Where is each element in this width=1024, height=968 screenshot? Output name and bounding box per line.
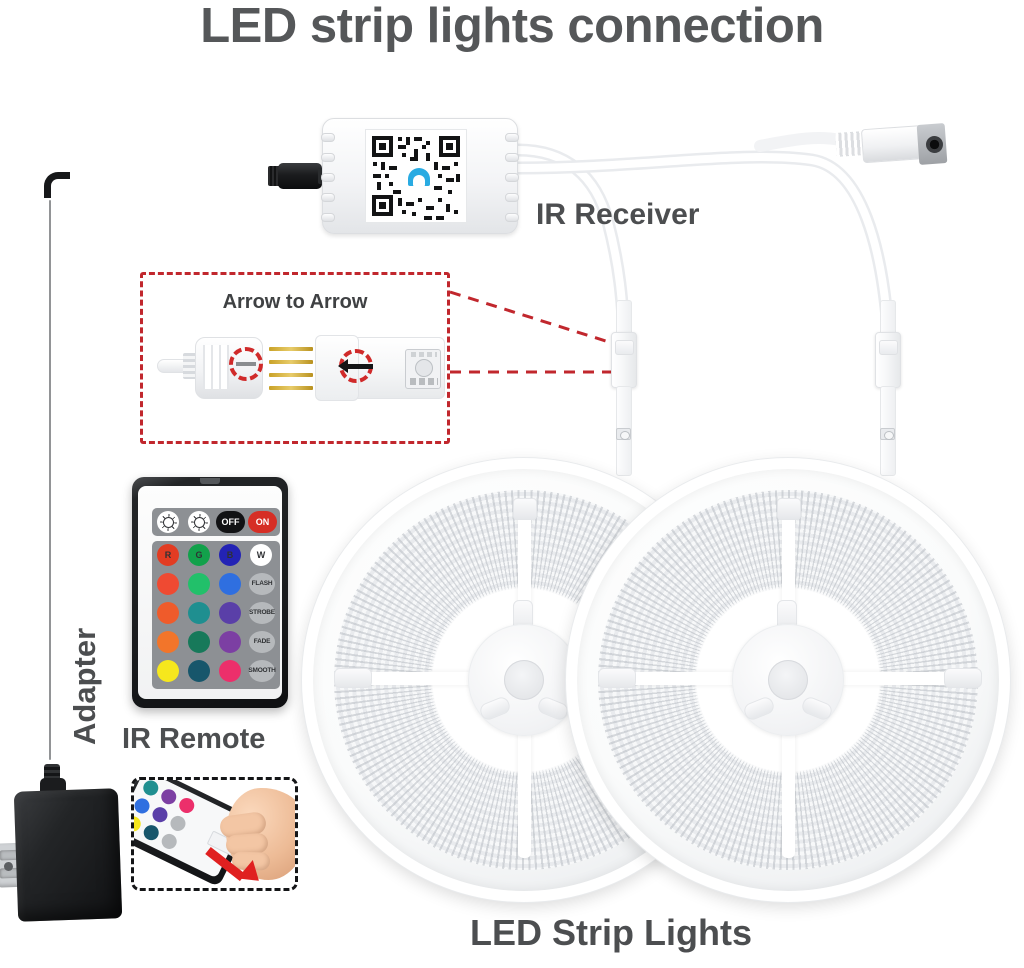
callout-arrow-left-icon [236, 362, 256, 366]
remote-key-fade[interactable]: FADE [249, 631, 275, 653]
diagram-canvas: LED strip lights connection Adapter [0, 0, 1024, 968]
remote-key-brightness-up[interactable] [157, 511, 179, 533]
remote-key-red[interactable]: R [157, 544, 179, 566]
left-strip-led-chip [616, 428, 631, 440]
callout-pin-3 [269, 373, 313, 377]
power-adapter-body [14, 788, 122, 922]
arrow-to-arrow-callout: Arrow to Arrow [140, 272, 450, 444]
remote-key-color-5-3[interactable] [219, 660, 241, 682]
led-strip-lights-label: LED Strip Lights [470, 912, 752, 954]
remote-key-color-5-2[interactable] [188, 660, 210, 682]
sun-icon [194, 517, 205, 528]
remote-key-white[interactable]: W [250, 544, 272, 566]
adapter-cable-highlight [49, 200, 51, 760]
callout-title: Arrow to Arrow [143, 291, 447, 314]
callout-pin-1 [269, 347, 313, 351]
remote-key-color-4-3[interactable] [219, 631, 241, 653]
remote-key-smooth[interactable]: SMOOTH [249, 660, 275, 682]
remote-key-strobe[interactable]: STROBE [249, 602, 275, 624]
adapter-cable-vertical [0, 7, 7, 619]
sun-icon [163, 517, 174, 528]
remote-key-color-4-1[interactable] [157, 631, 179, 653]
ir-emitter [200, 478, 220, 484]
remote-faceplate: OFF ON R G B W [138, 486, 282, 699]
callout-led-chip [405, 349, 441, 389]
qr-code-icon [366, 130, 466, 222]
remote-key-flash[interactable]: FLASH [249, 573, 275, 595]
right-strip-connector [875, 332, 901, 388]
brand-logo-icon [408, 168, 430, 186]
battery-tab-inset [131, 777, 298, 891]
callout-pin-2 [269, 360, 313, 364]
remote-key-on[interactable]: ON [248, 511, 277, 533]
remote-key-green[interactable]: G [188, 544, 210, 566]
remote-key-color-2-1[interactable] [157, 573, 179, 595]
page-title: LED strip lights connection [0, 0, 1024, 54]
remote-key-color-3-1[interactable] [157, 602, 179, 624]
ir-remote[interactable]: OFF ON R G B W [132, 477, 288, 708]
remote-key-brightness-down[interactable] [188, 511, 210, 533]
callout-pin-4 [269, 386, 313, 390]
callout-arrow-right-icon [347, 364, 373, 369]
right-strip-led-chip [880, 428, 895, 440]
remote-key-color-2-2[interactable] [188, 573, 210, 595]
ir-receiver-label: IR Receiver [536, 198, 699, 232]
left-strip-connector [611, 332, 637, 388]
remote-key-color-3-3[interactable] [219, 602, 241, 624]
ir-remote-label: IR Remote [122, 723, 265, 756]
remote-key-color-2-3[interactable] [219, 573, 241, 595]
remote-key-color-4-2[interactable] [188, 631, 210, 653]
remote-key-off[interactable]: OFF [216, 511, 245, 533]
callout-plug-ribs [203, 345, 229, 389]
remote-key-color-5-1[interactable] [157, 660, 179, 682]
remote-top-keypad: OFF ON [152, 508, 280, 536]
remote-key-blue[interactable]: B [219, 544, 241, 566]
adapter-plug-barrel [278, 163, 322, 189]
adapter-label: Adapter [67, 628, 103, 745]
remote-key-color-3-2[interactable] [188, 602, 210, 624]
remote-main-keypad: R G B W FL [152, 541, 280, 689]
adapter-cable-elbow [44, 172, 70, 198]
